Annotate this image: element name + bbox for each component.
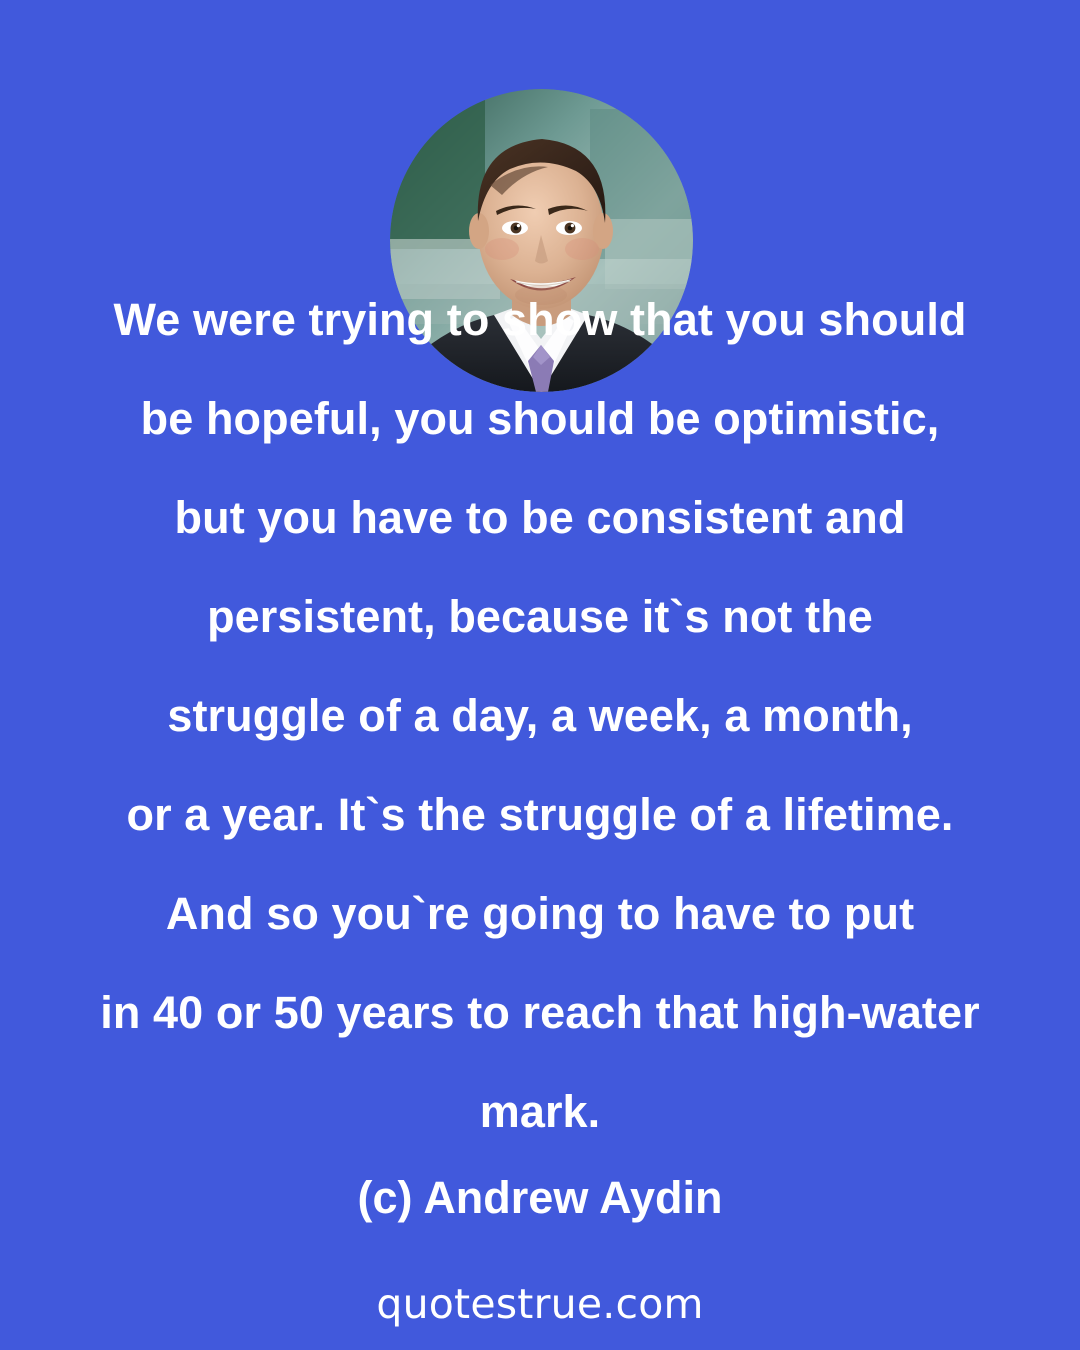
site-watermark: quotestrue.com	[0, 1278, 1080, 1330]
quote-line: or a year. It`s the struggle of a lifeti…	[0, 765, 1080, 864]
quote-card: We were trying to show that you should b…	[0, 0, 1080, 1350]
quote-attribution: (c) Andrew Aydin	[0, 1170, 1080, 1226]
quote-line: We were trying to show that you should	[0, 270, 1080, 369]
quote-line: struggle of a day, a week, a month,	[0, 666, 1080, 765]
quote-line: in 40 or 50 years to reach that high-wat…	[0, 963, 1080, 1062]
quote-line: And so you`re going to have to put	[0, 864, 1080, 963]
quote-line: but you have to be consistent and	[0, 468, 1080, 567]
quote-line: mark.	[0, 1062, 1080, 1161]
quote-line: be hopeful, you should be optimistic,	[0, 369, 1080, 468]
quote-text: We were trying to show that you should b…	[0, 270, 1080, 1161]
quote-line: persistent, because it`s not the	[0, 567, 1080, 666]
